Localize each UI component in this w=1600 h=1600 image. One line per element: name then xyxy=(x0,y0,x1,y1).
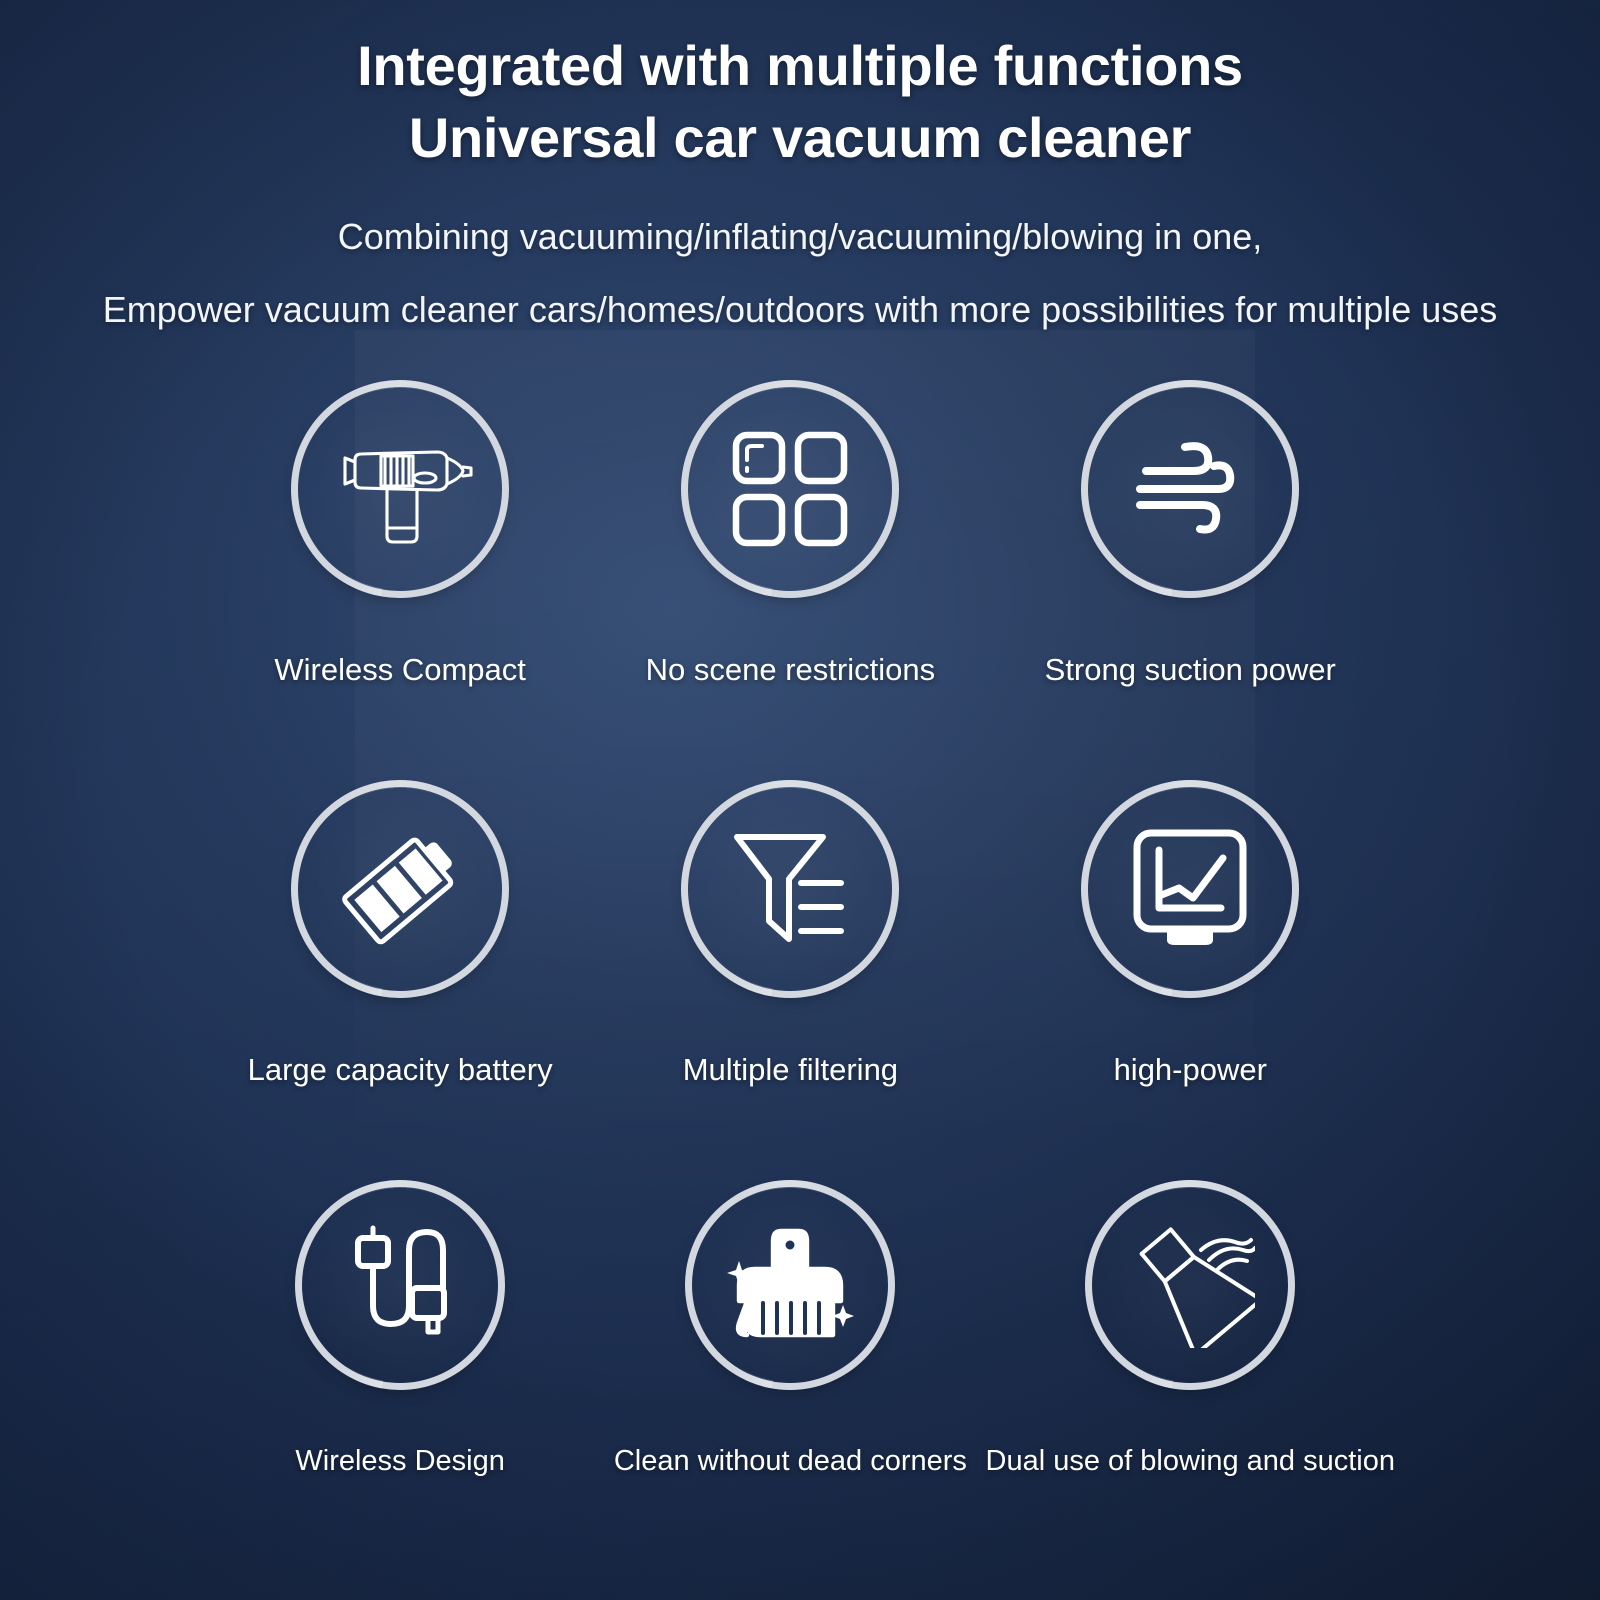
feature-label: high-power xyxy=(1114,1051,1267,1090)
feature-item-high-power: high-power xyxy=(986,787,1395,1187)
vacuum-gun-icon xyxy=(325,424,475,554)
four-squares-grid-icon xyxy=(731,430,849,548)
title-line-1: Integrated with multiple functions xyxy=(0,30,1600,102)
feature-item-wireless-design: Wireless Design xyxy=(205,1187,595,1587)
feature-item-wireless-compact: Wireless Compact xyxy=(205,387,595,787)
filter-funnel-icon xyxy=(731,829,849,949)
feature-label: Strong suction power xyxy=(1045,651,1336,690)
subtitle-line-2: Empower vacuum cleaner cars/homes/outdoo… xyxy=(0,286,1600,335)
battery-icon xyxy=(336,828,464,950)
feature-label: Dual use of blowing and suction xyxy=(986,1443,1395,1479)
feature-label: Wireless Design xyxy=(295,1443,505,1479)
usb-cable-icon xyxy=(347,1224,453,1346)
icon-ring xyxy=(688,787,892,991)
icon-ring xyxy=(298,787,502,991)
feature-label: Wireless Compact xyxy=(274,651,526,690)
feature-item-large-capacity-battery: Large capacity battery xyxy=(205,787,595,1187)
feature-label: No scene restrictions xyxy=(646,651,935,690)
icon-ring xyxy=(688,387,892,591)
wind-airflow-icon xyxy=(1130,437,1250,541)
icon-ring xyxy=(692,1187,888,1383)
poster-header: Integrated with multiple functions Unive… xyxy=(0,0,1600,335)
icon-ring xyxy=(1092,1187,1288,1383)
icon-ring xyxy=(302,1187,498,1383)
feature-item-clean-without-dead-corners: Clean without dead corners xyxy=(595,1187,985,1587)
feature-item-dual-use-blowing-suction: Dual use of blowing and suction xyxy=(986,1187,1395,1587)
icon-ring xyxy=(298,387,502,591)
product-infographic-poster: Integrated with multiple functions Unive… xyxy=(0,0,1600,1600)
cleaning-brush-icon xyxy=(725,1227,855,1343)
subtitle-line-1: Combining vacuuming/inflating/vacuuming/… xyxy=(0,213,1600,262)
nozzle-blow-icon xyxy=(1125,1222,1255,1348)
power-chart-icon xyxy=(1131,828,1249,950)
feature-label: Large capacity battery xyxy=(248,1051,553,1090)
feature-label: Multiple filtering xyxy=(683,1051,898,1090)
feature-item-multiple-filtering: Multiple filtering xyxy=(595,787,985,1187)
feature-item-strong-suction-power: Strong suction power xyxy=(986,387,1395,787)
title-line-2: Universal car vacuum cleaner xyxy=(0,102,1600,174)
feature-item-no-scene-restrictions: No scene restrictions xyxy=(595,387,985,787)
feature-grid: Wireless Compact No scene restrictions xyxy=(205,387,1395,1587)
icon-ring xyxy=(1088,787,1292,991)
feature-label: Clean without dead corners xyxy=(614,1443,967,1479)
icon-ring xyxy=(1088,387,1292,591)
